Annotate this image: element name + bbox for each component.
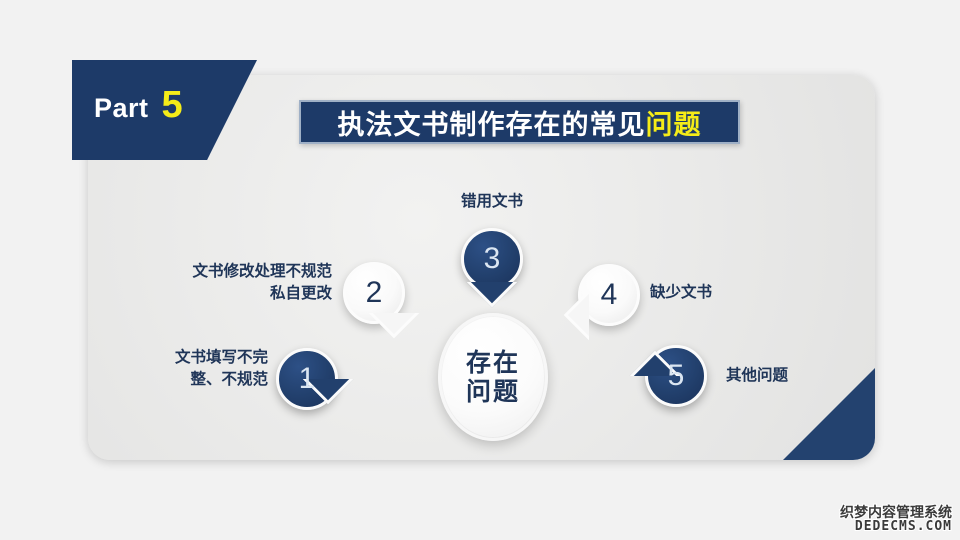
item-label-5: 其他问题 <box>726 364 788 386</box>
item-label-2-line2: 私自更改 <box>140 282 332 304</box>
bubble-4[interactable]: 4 <box>578 264 640 326</box>
watermark: 织梦内容管理系统 DEDECMS.COM <box>840 506 952 534</box>
slide-root: Part 5 执法文书制作存在的常见问题 存在 问题 1 2 3 4 5 文书填… <box>0 0 960 540</box>
title-text-highlight: 问题 <box>646 110 702 141</box>
item-label-1: 文书填写不完 整、不规范 <box>128 346 268 391</box>
item-label-1-line2: 整、不规范 <box>128 368 268 390</box>
center-node-line2: 问题 <box>466 377 520 407</box>
page-title: 执法文书制作存在的常见问题 <box>338 103 702 142</box>
item-label-1-line1: 文书填写不完 <box>128 346 268 368</box>
bubble-3-number: 3 <box>484 244 501 274</box>
watermark-cn: 织梦内容管理系统 <box>840 506 952 521</box>
part-banner-inner: Part 5 <box>94 86 183 124</box>
bubble-4-number: 4 <box>601 280 618 310</box>
center-node: 存在 问题 <box>438 313 548 441</box>
corner-triangle-decoration <box>783 368 875 460</box>
bubble-1-number: 1 <box>299 364 316 394</box>
item-label-2-line1: 文书修改处理不规范 <box>140 260 332 282</box>
bubble-5-number: 5 <box>668 361 685 391</box>
title-text-normal: 执法文书制作存在的常见 <box>338 110 646 141</box>
bubble-2-number: 2 <box>366 278 383 308</box>
item-label-2: 文书修改处理不规范 私自更改 <box>140 260 332 305</box>
center-node-line1: 存在 <box>466 348 520 378</box>
title-bar: 执法文书制作存在的常见问题 <box>299 100 740 144</box>
watermark-en: DEDECMS.COM <box>840 520 952 534</box>
bubble-1[interactable]: 1 <box>276 348 338 410</box>
part-label: Part <box>94 93 149 124</box>
bubble-5[interactable]: 5 <box>645 345 707 407</box>
item-label-3: 错用文书 <box>442 190 542 212</box>
bubble-2[interactable]: 2 <box>343 262 405 324</box>
part-number: 5 <box>162 86 183 124</box>
bubble-3[interactable]: 3 <box>461 228 523 290</box>
item-label-4: 缺少文书 <box>650 281 712 303</box>
